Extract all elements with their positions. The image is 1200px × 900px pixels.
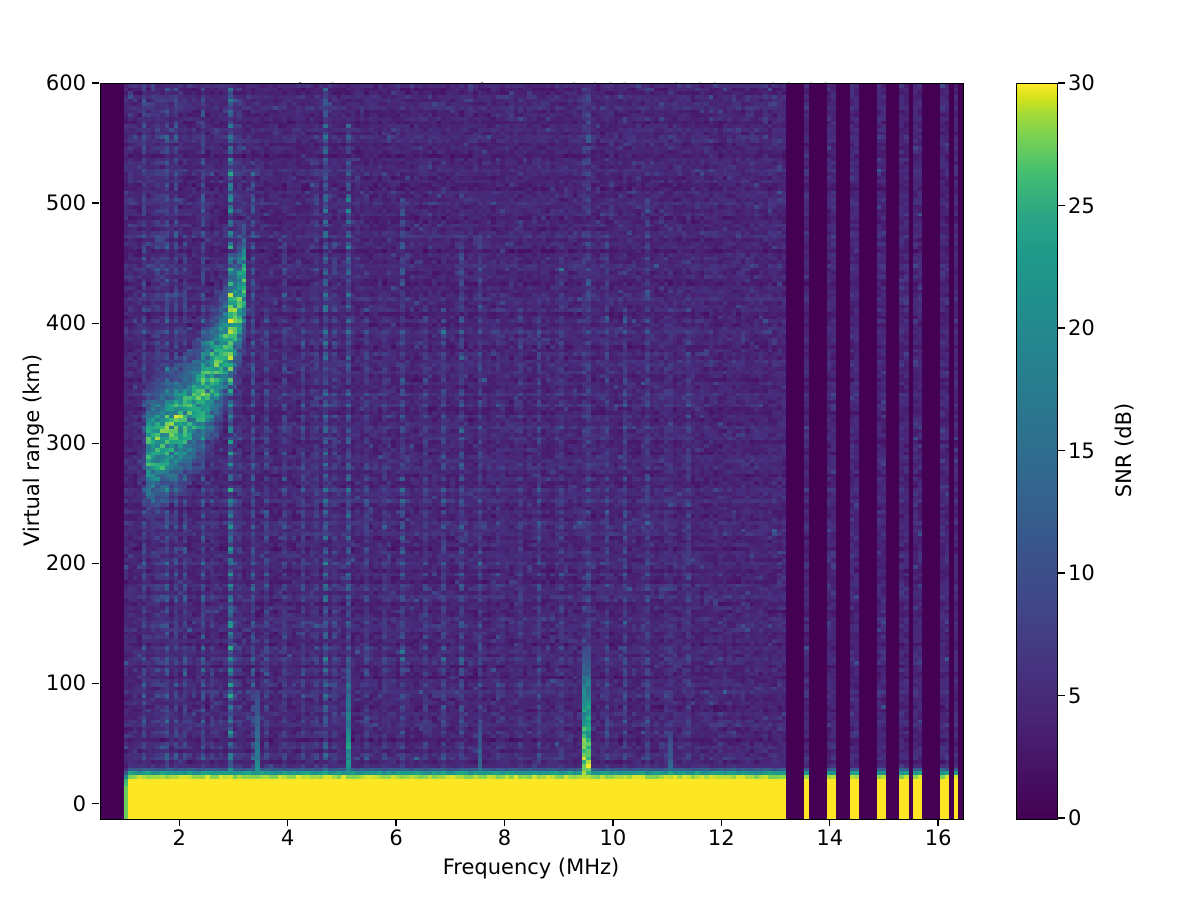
- x-tick-mark: [287, 819, 288, 826]
- y-axis-label-text: Virtual range (km): [20, 354, 44, 546]
- y-tick-mark: [92, 82, 99, 83]
- y-tick-mark: [92, 803, 99, 804]
- x-tick-mark: [395, 819, 396, 826]
- x-tick-label: 14: [816, 826, 843, 850]
- y-tick-label: 500: [46, 191, 86, 215]
- colorbar-gradient: [1016, 83, 1058, 820]
- y-tick-mark: [92, 443, 99, 444]
- y-axis-label: Virtual range (km): [18, 0, 46, 900]
- colorbar-tick-label: 15: [1068, 439, 1095, 463]
- y-tick-label: 0: [73, 792, 86, 816]
- ionogram-plot-area[interactable]: [100, 83, 964, 820]
- colorbar-label: SNR (dB): [1110, 0, 1138, 900]
- colorbar-tick-mark: [1058, 450, 1065, 451]
- colorbar-tick-mark: [1058, 695, 1065, 696]
- x-tick-label: 8: [498, 826, 511, 850]
- ionogram-figure: IRF Uppsala SDR Ionosonde UP158 2025-12-…: [0, 0, 1200, 900]
- x-tick-label: 4: [281, 826, 294, 850]
- x-axis-label: Frequency (MHz): [100, 855, 962, 879]
- x-tick-mark: [937, 819, 938, 826]
- x-tick-label: 12: [708, 826, 735, 850]
- colorbar-tick-mark: [1058, 327, 1065, 328]
- y-tick-mark: [92, 202, 99, 203]
- y-tick-label: 300: [46, 431, 86, 455]
- colorbar-tick-label: 20: [1068, 316, 1095, 340]
- x-tick-label: 10: [599, 826, 626, 850]
- colorbar-tick-mark: [1058, 572, 1065, 573]
- x-tick-mark: [829, 819, 830, 826]
- x-tick-mark: [612, 819, 613, 826]
- ionogram-heatmap: [101, 84, 963, 819]
- colorbar-tick-label: 5: [1068, 684, 1081, 708]
- y-tick-label: 600: [46, 71, 86, 95]
- x-tick-label: 16: [925, 826, 952, 850]
- colorbar-tick-mark: [1058, 817, 1065, 818]
- colorbar-label-text: SNR (dB): [1112, 403, 1136, 497]
- colorbar-tick-label: 25: [1068, 194, 1095, 218]
- colorbar-tick-mark: [1058, 205, 1065, 206]
- x-tick-mark: [179, 819, 180, 826]
- y-tick-label: 400: [46, 311, 86, 335]
- colorbar-tick-mark: [1058, 82, 1065, 83]
- y-tick-mark: [92, 683, 99, 684]
- colorbar-tick-label: 10: [1068, 561, 1095, 585]
- y-tick-label: 200: [46, 551, 86, 575]
- x-tick-label: 2: [172, 826, 185, 850]
- x-tick-label: 6: [389, 826, 402, 850]
- x-tick-mark: [721, 819, 722, 826]
- colorbar-tick-label: 30: [1068, 71, 1095, 95]
- y-tick-mark: [92, 323, 99, 324]
- y-tick-mark: [92, 563, 99, 564]
- colorbar-tick-label: 0: [1068, 806, 1081, 830]
- x-tick-mark: [504, 819, 505, 826]
- y-tick-label: 100: [46, 671, 86, 695]
